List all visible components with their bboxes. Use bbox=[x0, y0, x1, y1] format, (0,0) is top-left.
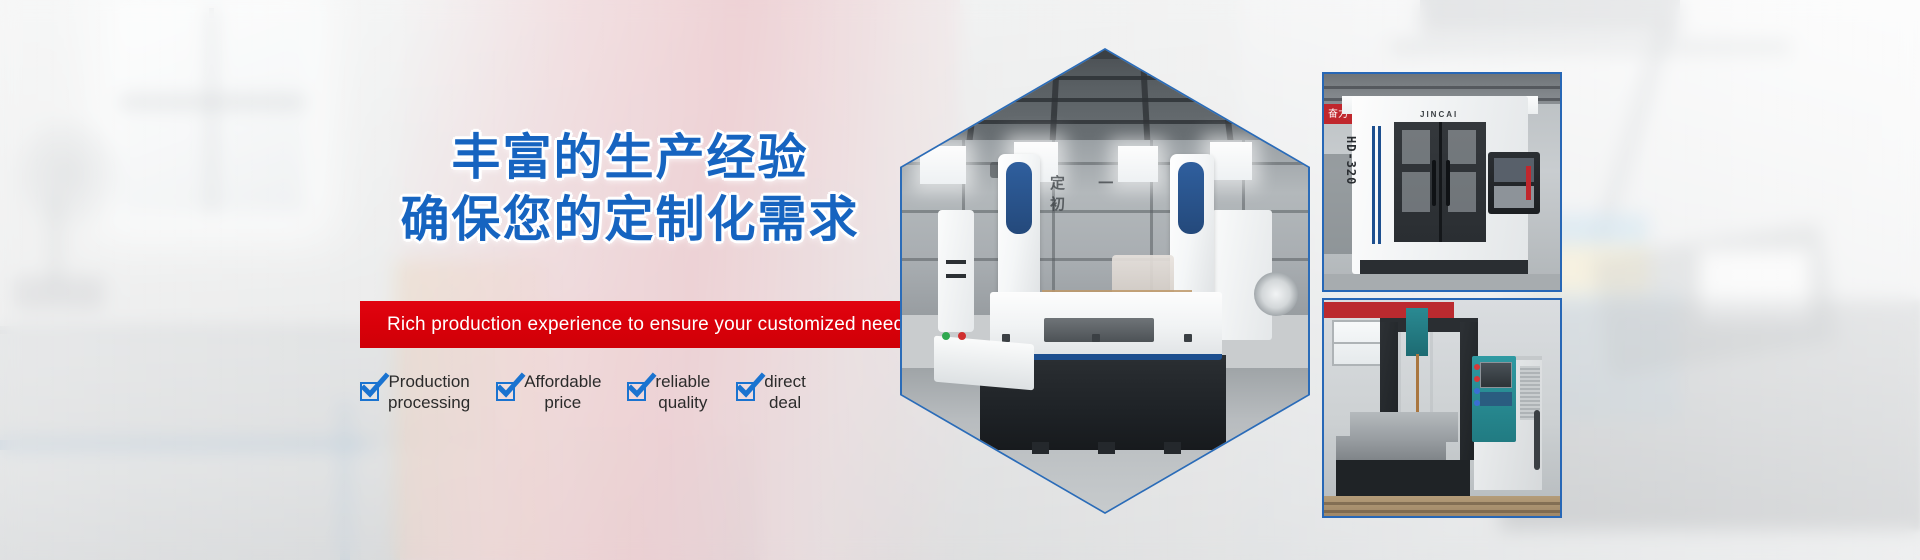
photo-window bbox=[1210, 142, 1252, 180]
thumb2-wall-banner bbox=[1324, 302, 1454, 318]
photo-purlin bbox=[902, 76, 1308, 80]
photo-bolt bbox=[1092, 334, 1100, 342]
photo-purlin bbox=[902, 98, 1308, 102]
feature-list: Production processing Affordable price r… bbox=[360, 372, 806, 413]
photo-bolt bbox=[1184, 334, 1192, 342]
thumbnail-edm-machine[interactable] bbox=[1322, 298, 1562, 518]
thumb2-indicator-lamp bbox=[1474, 364, 1480, 370]
feature-item-direct-deal: direct deal bbox=[736, 372, 806, 413]
feature-label-line-1: Affordable bbox=[524, 372, 601, 393]
thumb2-machine-base bbox=[1336, 460, 1470, 498]
thumb1-roof-line bbox=[1324, 86, 1560, 89]
checkbox-checked-icon bbox=[736, 382, 755, 401]
feature-item-production-processing: Production processing bbox=[360, 372, 470, 413]
thumb1-red-accent bbox=[1526, 166, 1531, 200]
thumb1-door-split bbox=[1439, 122, 1442, 242]
feature-label-line-1: reliable bbox=[655, 372, 710, 393]
subtitle-bar: Rich production experience to ensure you… bbox=[360, 301, 905, 348]
checkbox-checked-icon bbox=[360, 382, 379, 401]
checkbox-checked-icon bbox=[627, 382, 646, 401]
thumb1-door-window bbox=[1448, 172, 1476, 212]
headline-line-1: 丰富的生产经验 bbox=[395, 128, 865, 188]
thumb2-indicator-lamp bbox=[1474, 376, 1480, 382]
subtitle-bar-text: Rich production experience to ensure you… bbox=[387, 314, 914, 336]
thumb2-pallet-slat bbox=[1324, 502, 1560, 505]
thumb1-blue-stripe bbox=[1372, 126, 1375, 244]
hero-hexagon-image: 定 一 初 bbox=[900, 48, 1310, 514]
feature-label-line-1: direct bbox=[764, 372, 806, 393]
feature-label: reliable quality bbox=[655, 372, 710, 413]
photo-machine-foot bbox=[1098, 442, 1115, 454]
thumb2-indicator-lamp bbox=[1474, 388, 1480, 394]
photo-wall-sign: 定 一 初 bbox=[1050, 172, 1150, 194]
photo-green-button bbox=[942, 332, 950, 340]
thumb2-monitor bbox=[1480, 362, 1512, 388]
thumb2-indicator-lamp bbox=[1474, 400, 1480, 406]
thumbnail-column: 奋力 HD-320 JINCAI bbox=[1322, 72, 1562, 518]
photo-machine-foot bbox=[1032, 442, 1049, 454]
headline: 丰富的生产经验 确保您的定制化需求 bbox=[395, 128, 865, 250]
thumb1-door-window bbox=[1448, 130, 1476, 164]
thumb1-door-window bbox=[1402, 130, 1430, 164]
photo-coil-wheel bbox=[1254, 272, 1298, 316]
checkbox-checked-icon bbox=[496, 382, 515, 401]
thumb1-door-handle bbox=[1446, 160, 1450, 206]
thumb1-ground bbox=[1324, 274, 1560, 292]
thumb1-door-window bbox=[1402, 172, 1430, 212]
feature-label-line-2: price bbox=[524, 393, 601, 414]
feature-label: Production processing bbox=[388, 372, 470, 413]
thumb1-model-label: HD-320 bbox=[1344, 136, 1358, 185]
thumb2-cutting-head bbox=[1406, 308, 1428, 356]
feature-label: Affordable price bbox=[524, 372, 601, 413]
photo-cabinet-slot bbox=[946, 260, 966, 264]
photo-column-right-face bbox=[1178, 162, 1204, 234]
feature-label-line-2: quality bbox=[655, 393, 710, 414]
photo-conveyor bbox=[934, 336, 1034, 391]
feature-label-line-2: deal bbox=[764, 393, 806, 414]
photo-cabinet-slot bbox=[946, 274, 966, 278]
thumb1-brand-label: JINCAI bbox=[1420, 110, 1458, 119]
photo-purlin bbox=[902, 120, 1308, 124]
thumb2-wood-pallet bbox=[1324, 496, 1560, 518]
photo-machine-foot bbox=[1164, 442, 1181, 454]
photo-roof-beam bbox=[902, 50, 1308, 59]
photo-red-button bbox=[958, 332, 966, 340]
thumb1-door-handle bbox=[1432, 160, 1436, 206]
feature-label-line-1: Production bbox=[388, 372, 470, 393]
feature-label-line-2: processing bbox=[388, 393, 470, 414]
photo-column-left-face bbox=[1006, 162, 1032, 234]
hero-hexagon-photo: 定 一 初 bbox=[902, 50, 1308, 512]
feature-label: direct deal bbox=[764, 372, 806, 413]
photo-left-cabinet bbox=[938, 210, 974, 332]
thumb2-pallet-slat bbox=[1324, 510, 1560, 513]
headline-line-2: 确保您的定制化需求 bbox=[395, 190, 865, 250]
hero-photo-scene: 定 一 初 bbox=[902, 50, 1308, 512]
thumb1-blue-stripe bbox=[1378, 126, 1381, 244]
thumb2-keypad bbox=[1480, 392, 1512, 406]
feature-item-reliable-quality: reliable quality bbox=[627, 372, 710, 413]
banner-copy-block: 丰富的生产经验 确保您的定制化需求 Rich production experi… bbox=[0, 0, 960, 560]
feature-item-affordable-price: Affordable price bbox=[496, 372, 601, 413]
thumbnail-hd320[interactable]: 奋力 HD-320 JINCAI bbox=[1322, 72, 1562, 292]
thumb2-hose bbox=[1534, 410, 1540, 470]
